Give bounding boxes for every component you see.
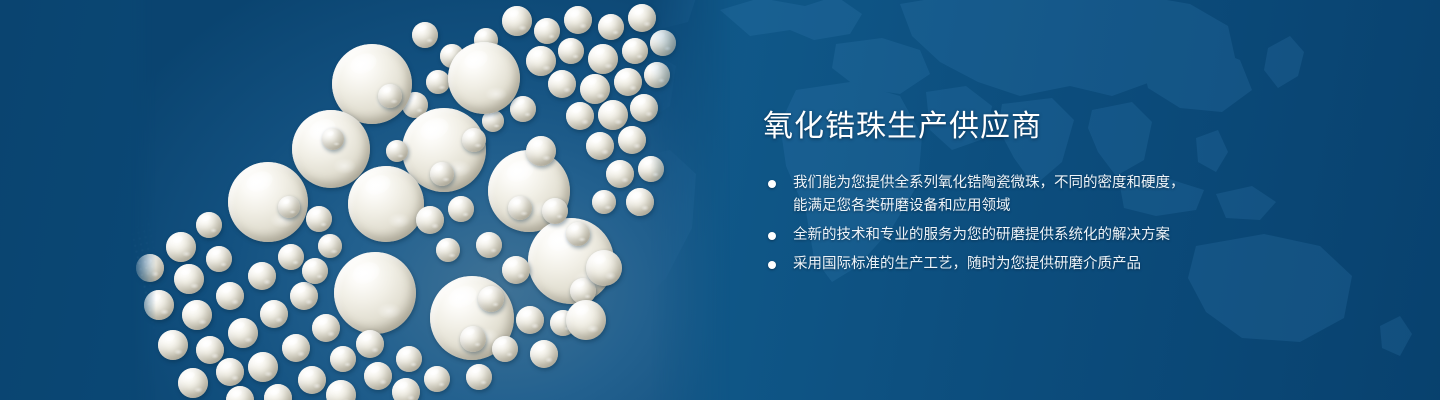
bullet-dot-icon: [768, 261, 776, 269]
list-item-line-1: 采用国际标准的生产工艺，随时为您提供研磨介质产品: [793, 253, 1363, 276]
list-item: 采用国际标准的生产工艺，随时为您提供研磨介质产品: [763, 253, 1363, 276]
bullet-dot-icon: [768, 232, 776, 240]
page-title: 氧化锆珠生产供应商: [763, 108, 1363, 146]
banner-content: 氧化锆珠生产供应商 我们能为您提供全系列氧化锆陶瓷微珠，不同的密度和硬度， 能满…: [763, 108, 1363, 276]
list-item-line-1: 我们能为您提供全系列氧化锆陶瓷微珠，不同的密度和硬度，: [793, 172, 1363, 195]
bullet-dot-icon: [768, 180, 776, 188]
list-item-line-1: 全新的技术和专业的服务为您的研磨提供系统化的解决方案: [793, 224, 1363, 247]
list-item: 我们能为您提供全系列氧化锆陶瓷微珠，不同的密度和硬度， 能满足您各类研磨设备和应…: [763, 172, 1363, 218]
bead-cluster: [130, 0, 730, 400]
zirconia-beads-photo: [130, 0, 730, 400]
hero-banner: 氧化锆珠生产供应商 我们能为您提供全系列氧化锆陶瓷微珠，不同的密度和硬度， 能满…: [0, 0, 1440, 400]
list-item: 全新的技术和专业的服务为您的研磨提供系统化的解决方案: [763, 224, 1363, 247]
list-item-line-2: 能满足您各类研磨设备和应用领域: [793, 195, 1363, 218]
feature-list: 我们能为您提供全系列氧化锆陶瓷微珠，不同的密度和硬度， 能满足您各类研磨设备和应…: [763, 172, 1363, 276]
